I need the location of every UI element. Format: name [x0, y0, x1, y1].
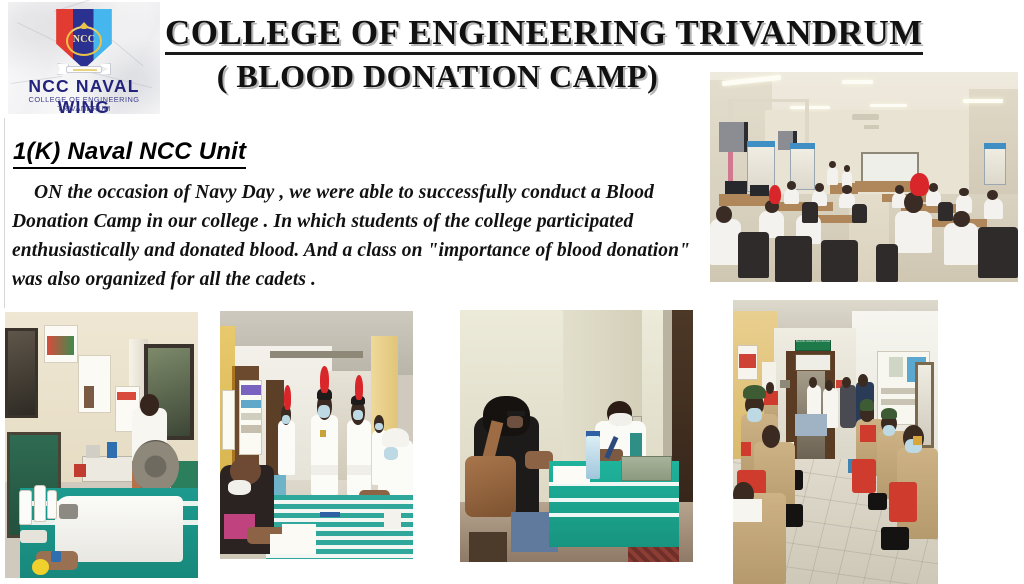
donation-bed-scene	[5, 312, 198, 578]
waiting-corridor-scene: BLOOD DONATION ROOM	[733, 300, 938, 584]
photo-auditorium	[710, 72, 1018, 282]
photo-registration-desk	[220, 311, 413, 559]
ncc-shield-emblem: NCC	[55, 9, 113, 69]
body-paragraph: ON the occasion of Navy Day , we were ab…	[12, 178, 692, 294]
slide-canvas: NCC NCC NAVAL WING COLLEGE OF ENGINEERIN…	[0, 0, 1024, 584]
photo-medical-screening	[460, 310, 693, 562]
ribbon-icon	[57, 63, 111, 76]
medical-screening-scene	[460, 310, 693, 562]
unit-heading: 1(K) Naval NCC Unit	[13, 138, 246, 169]
blood-donation-room-sign: BLOOD DONATION ROOM	[795, 340, 832, 351]
heading-line-2: ( BLOOD DONATION CAMP)	[165, 60, 710, 94]
left-margin-rule	[4, 118, 5, 308]
registration-desk-scene	[220, 311, 413, 559]
heading-line-1: COLLEGE OF ENGINEERING TRIVANDRUM	[165, 14, 923, 55]
ncc-logo: NCC NCC NAVAL WING COLLEGE OF ENGINEERIN…	[8, 2, 160, 114]
slide-heading: COLLEGE OF ENGINEERING TRIVANDRUM ( BLOO…	[165, 14, 710, 94]
logo-subtitle: COLLEGE OF ENGINEERING TRIVANDRUM	[8, 95, 160, 113]
auditorium-scene	[710, 72, 1018, 282]
photo-donation-bed	[5, 312, 198, 578]
emblem-center-label: NCC	[73, 34, 96, 45]
blood-donation-room-sign-label: BLOOD DONATION ROOM	[796, 341, 831, 350]
photo-waiting-corridor: BLOOD DONATION ROOM	[733, 300, 938, 584]
